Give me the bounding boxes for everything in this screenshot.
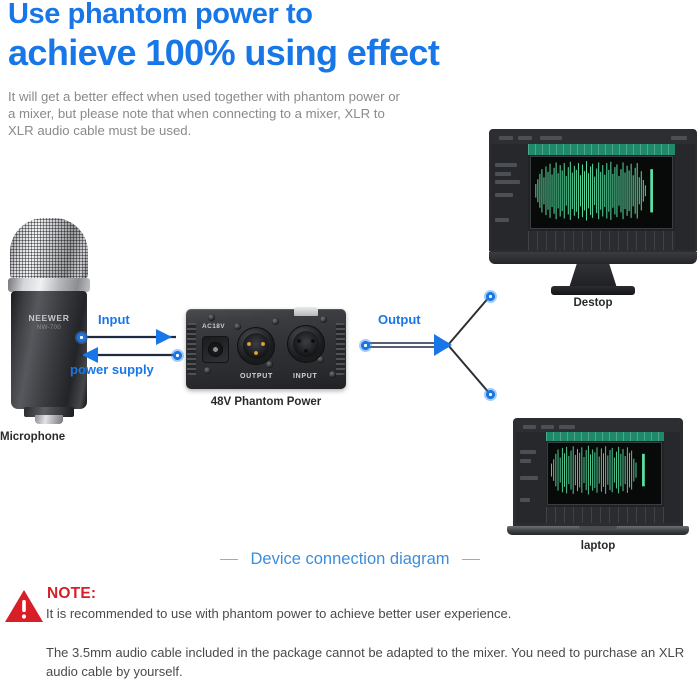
editor-status-bar (546, 507, 664, 523)
microphone-thread (35, 415, 63, 424)
audio-editor-ui-laptop (516, 421, 680, 523)
screw-icon (329, 371, 336, 378)
microphone-grille-icon (10, 218, 88, 280)
desktop-label: Destop (489, 297, 697, 309)
laptop-trackpad-notch (579, 526, 617, 529)
heatsink-fins-left (187, 323, 196, 375)
caption-dash-left (220, 559, 238, 561)
connection-node-laptop (484, 388, 497, 401)
warning-triangle-icon (4, 588, 44, 624)
monitor-stand-neck (569, 264, 617, 288)
screw-icon (234, 323, 241, 330)
editor-right-panel (675, 144, 695, 250)
phantom-power-caption: 48V Phantom Power (186, 396, 346, 408)
xlr-latch-tab (294, 307, 318, 316)
page-title-line-1: Use phantom power to (8, 0, 313, 31)
xlr-input-connector-icon (287, 325, 325, 363)
input-port-label: INPUT (293, 373, 318, 380)
connection-node-mic-in (171, 349, 184, 362)
screw-icon (320, 316, 327, 323)
editor-side-panel (491, 144, 528, 250)
ac-input-label: AC18V (202, 323, 225, 330)
laptop-screen (516, 421, 680, 523)
xlr-input-inner (293, 331, 319, 357)
audio-waveform-icon (534, 157, 669, 225)
editor-toolbar (516, 421, 680, 432)
waveform-canvas-desktop (530, 156, 673, 229)
editor-right-panel (664, 432, 680, 523)
infographic-page: Use phantom power to achieve 100% using … (0, 0, 700, 685)
phantom-power-illustration: AC18V OUTPUT INPUT 48V Ph (186, 309, 346, 413)
xlr-output-inner (243, 333, 269, 359)
screw-icon (204, 367, 211, 374)
heatsink-fins-right (336, 323, 345, 375)
laptop-illustration: laptop (507, 418, 689, 564)
connection-node-output-source (359, 339, 372, 352)
diagram-caption: Device connection diagram (0, 550, 700, 569)
monitor-stand-foot (551, 286, 635, 295)
screw-icon (208, 314, 215, 321)
audio-editor-ui-desktop (491, 131, 695, 250)
screw-icon (266, 361, 273, 368)
editor-side-panel (516, 432, 546, 523)
connection-node-mic-out (75, 331, 88, 344)
note-paragraph-1: It is recommended to use with phantom po… (46, 605, 686, 624)
output-junction-arrowhead-icon (434, 334, 452, 356)
editor-timeline-ruler (546, 432, 664, 441)
diagram-caption-text: Device connection diagram (250, 550, 449, 569)
output-port-label: OUTPUT (240, 373, 273, 380)
editor-status-bar (528, 231, 675, 250)
microphone-label: Microphone (0, 431, 110, 443)
editor-timeline-ruler (528, 144, 675, 155)
monitor-chin (489, 252, 697, 264)
microphone-ring (8, 278, 90, 292)
note-paragraph-2: The 3.5mm audio cable included in the pa… (46, 644, 694, 681)
power-supply-arrowhead-icon (82, 347, 98, 363)
screw-icon (272, 318, 279, 325)
waveform-canvas-laptop (547, 442, 662, 504)
note-title: NOTE: (47, 585, 96, 603)
mic-arrows-svg (72, 312, 184, 380)
xlr-output-connector-icon (237, 327, 275, 365)
page-title-line-2: achieve 100% using effect (8, 32, 439, 74)
mic-connection-arrows: Input power supply (72, 312, 184, 380)
audio-waveform-icon (550, 443, 658, 497)
page-subtitle: It will get a better effect when used to… (8, 88, 408, 139)
caption-dash-right (462, 559, 480, 561)
desktop-monitor-illustration: Destop (489, 129, 697, 301)
phantom-power-body: AC18V OUTPUT INPUT (186, 309, 346, 389)
desktop-screen (489, 129, 697, 252)
editor-toolbar (491, 131, 695, 144)
laptop-lid (513, 418, 683, 526)
input-arrowhead-icon (156, 329, 172, 345)
dc-power-jack-icon (202, 336, 229, 363)
